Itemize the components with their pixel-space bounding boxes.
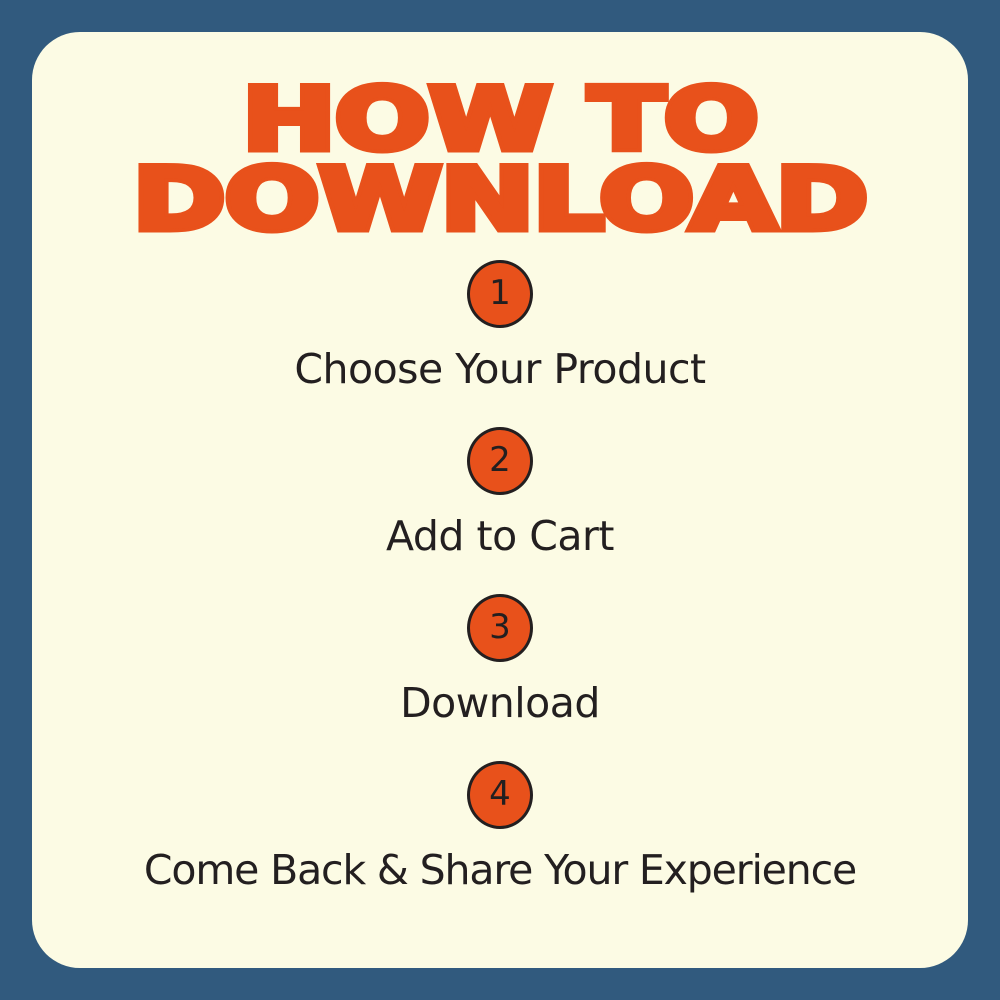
step-number-badge-1: 1: [467, 260, 533, 328]
title-line-1: HOW TO: [32, 84, 968, 158]
step-label-2: Add to Cart: [32, 513, 968, 560]
step-number-badge-4: 4: [467, 761, 533, 829]
page-title: HOW TO DOWNLOAD: [32, 84, 968, 238]
title-line-2: DOWNLOAD: [32, 164, 968, 238]
list-item: 1 Choose Your Product: [32, 260, 968, 393]
list-item: 3 Download: [32, 594, 968, 727]
step-label-4: Come Back & Share Your Experience: [32, 847, 968, 894]
list-item: 4 Come Back & Share Your Experience: [32, 761, 968, 894]
instruction-card: HOW TO DOWNLOAD 1 Choose Your Product 2 …: [32, 32, 968, 968]
step-number-badge-3: 3: [467, 594, 533, 662]
steps-list: 1 Choose Your Product 2 Add to Cart 3 Do…: [32, 260, 968, 929]
list-item: 2 Add to Cart: [32, 427, 968, 560]
poster-canvas: HOW TO DOWNLOAD 1 Choose Your Product 2 …: [0, 0, 1000, 1000]
step-label-1: Choose Your Product: [32, 346, 968, 393]
step-label-3: Download: [32, 680, 968, 727]
step-number-badge-2: 2: [467, 427, 533, 495]
